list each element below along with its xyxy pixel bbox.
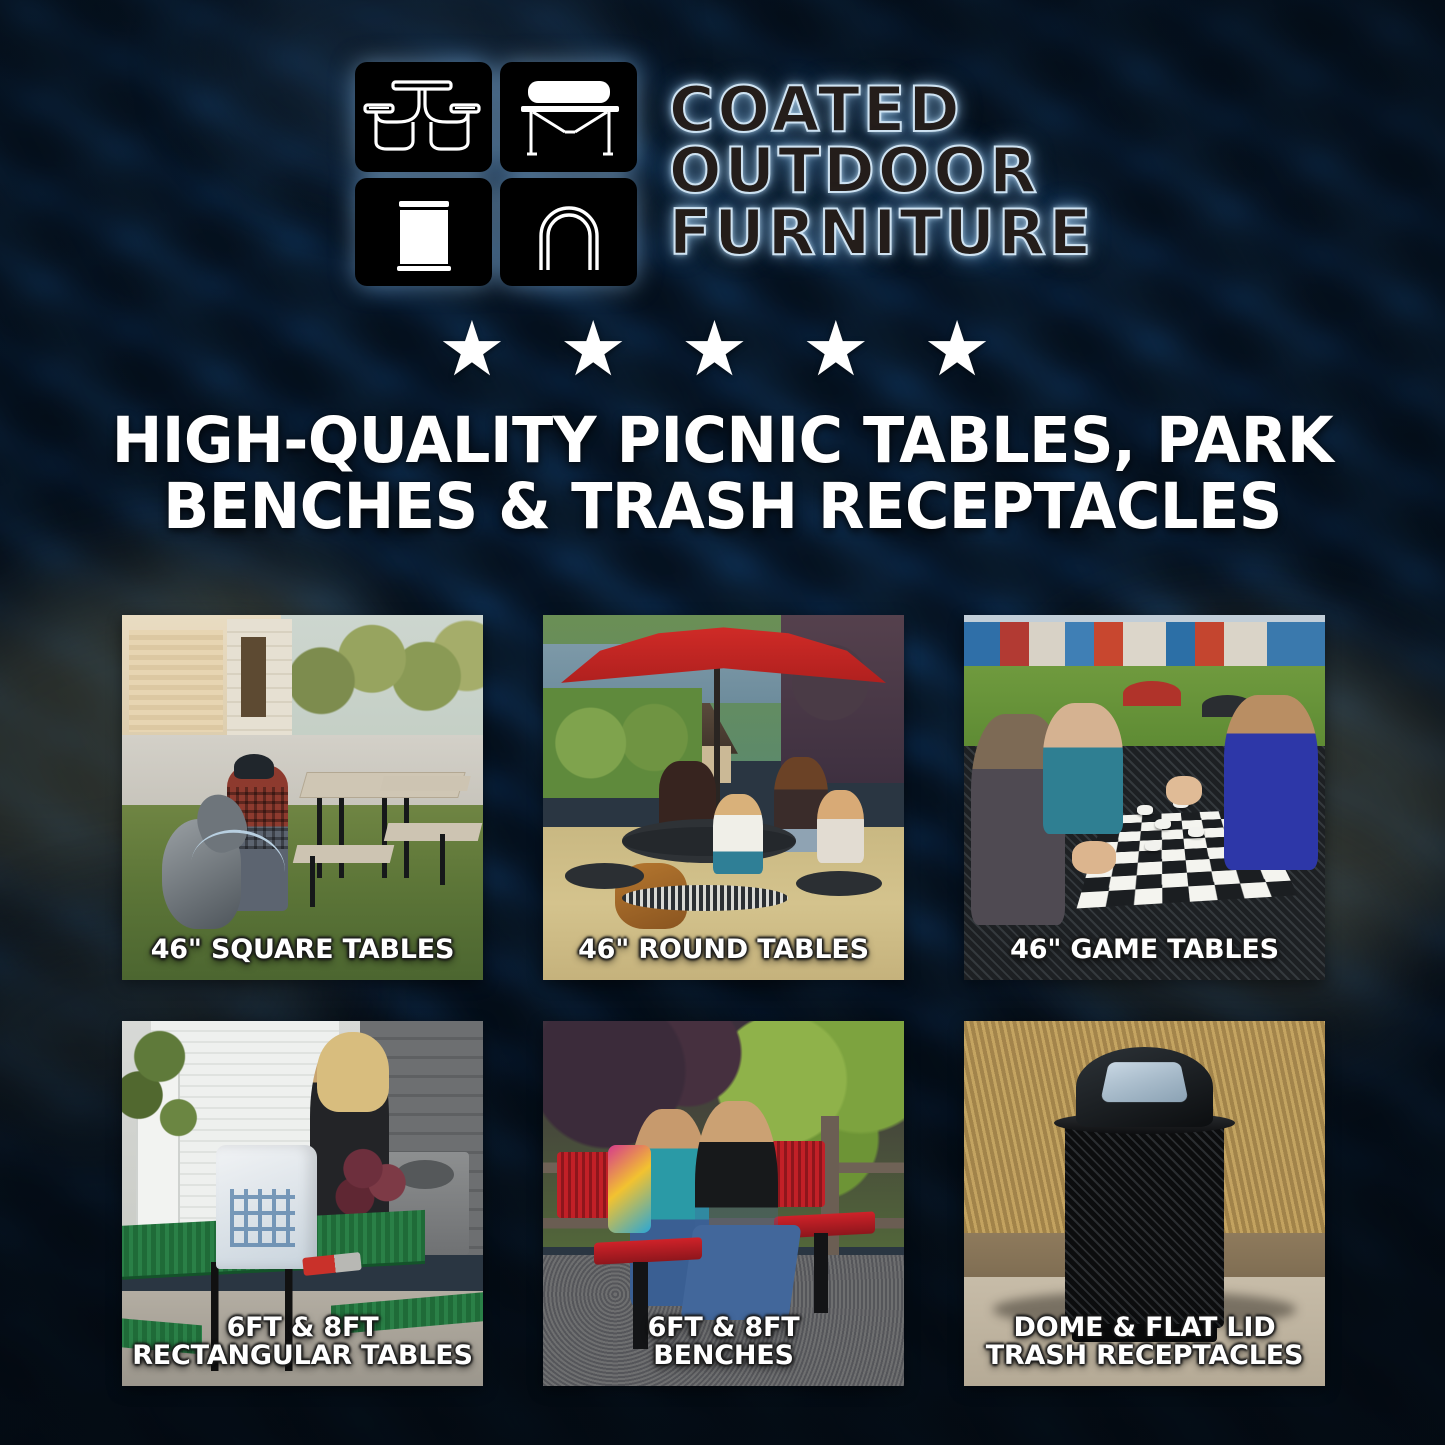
brand-line-3: FURNITURE (669, 203, 1094, 263)
product-tile-trash-receptacles[interactable]: DOME & FLAT LID TRASH RECEPTACLES (964, 1021, 1325, 1386)
round-tables-photo (543, 615, 904, 980)
brand-line-2: OUTDOOR (669, 141, 1094, 201)
product-category-grid: 46" SQUARE TABLES (122, 615, 1326, 1386)
product-tile-square-tables[interactable]: 46" SQUARE TABLES (122, 615, 483, 980)
caption-line-2: BENCHES (551, 1342, 896, 1370)
trash-receptacle-icon (397, 201, 451, 271)
star-icon: ★ (923, 312, 1007, 388)
brand-header: COATED OUTDOOR FURNITURE (0, 0, 1445, 290)
caption-line-2: RECTANGULAR TABLES (130, 1342, 475, 1370)
square-tables-photo (122, 615, 483, 980)
product-tile-caption: 6FT & 8FT BENCHES (543, 1314, 904, 1370)
product-tile-caption: 46" ROUND TABLES (543, 936, 904, 964)
product-tile-caption: 46" SQUARE TABLES (122, 936, 483, 964)
caption-line-1: 46" GAME TABLES (1010, 934, 1279, 965)
caption-line-1: 6FT & 8FT (227, 1312, 379, 1343)
coated-outdoor-furniture-logo (351, 58, 641, 290)
product-tile-round-tables[interactable]: 46" ROUND TABLES (543, 615, 904, 980)
brand-line-1: COATED (669, 80, 1094, 140)
caption-line-1: DOME & FLAT LID (1014, 1312, 1276, 1343)
headline-line-1: HIGH-QUALITY PICNIC TABLES, PARK (96, 408, 1349, 474)
promo-poster: COATED OUTDOOR FURNITURE ★ ★ ★ ★ ★ HIGH-… (0, 0, 1445, 1445)
product-tile-caption: DOME & FLAT LID TRASH RECEPTACLES (964, 1314, 1325, 1370)
star-icon: ★ (438, 312, 522, 388)
caption-line-1: 6FT & 8FT (648, 1312, 800, 1343)
star-icon: ★ (680, 312, 764, 388)
star-icon: ★ (559, 312, 643, 388)
product-tile-benches[interactable]: 6FT & 8FT BENCHES (543, 1021, 904, 1386)
star-icon: ★ (802, 312, 886, 388)
brand-wordmark: COATED OUTDOOR FURNITURE (669, 80, 1094, 269)
caption-line-2: TRASH RECEPTACLES (972, 1342, 1317, 1370)
product-tile-game-tables[interactable]: 46" GAME TABLES (964, 615, 1325, 980)
game-tables-photo (964, 615, 1325, 980)
caption-line-1: 46" SQUARE TABLES (151, 934, 455, 965)
product-tile-caption: 6FT & 8FT RECTANGULAR TABLES (122, 1314, 483, 1370)
product-tile-rectangular-tables[interactable]: 6FT & 8FT RECTANGULAR TABLES (122, 1021, 483, 1386)
page-title: HIGH-QUALITY PICNIC TABLES, PARK BENCHES… (29, 408, 1416, 539)
caption-line-1: 46" ROUND TABLES (578, 934, 869, 965)
headline-line-2: BENCHES & TRASH RECEPTACLES (96, 474, 1349, 540)
product-tile-caption: 46" GAME TABLES (964, 936, 1325, 964)
star-rating: ★ ★ ★ ★ ★ (0, 312, 1445, 388)
